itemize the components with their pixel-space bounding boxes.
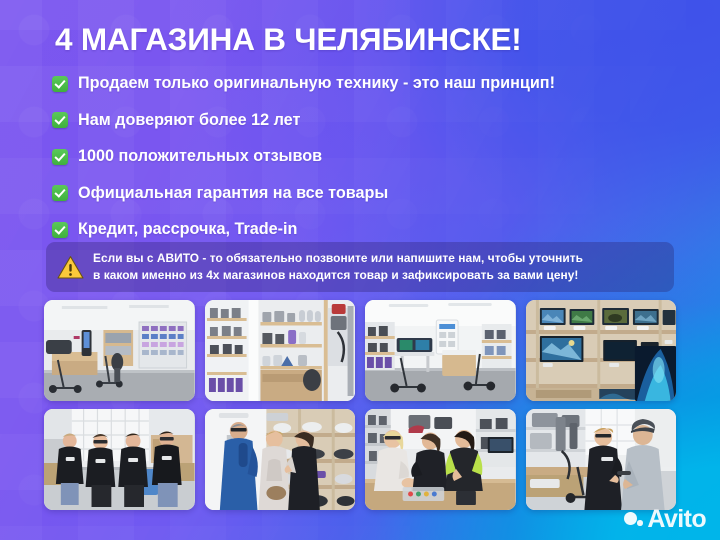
- benefits-list: Продаем только оригинальную технику - эт…: [52, 72, 692, 255]
- avito-dots-logo: [624, 509, 644, 529]
- notice-line-2: в каком именно из 4х магазинов находится…: [93, 268, 578, 282]
- page-title: 4 МАГАЗИНА В ЧЕЛЯБИНСКЕ!: [55, 24, 695, 56]
- list-item: Официальная гарантия на все товары: [52, 182, 692, 205]
- gallery-photo[interactable]: [526, 409, 677, 510]
- list-item-label: Официальная гарантия на все товары: [78, 184, 388, 203]
- list-item-label: 1000 положительных отзывов: [78, 147, 322, 166]
- gallery-photo[interactable]: [205, 300, 356, 401]
- green-check-icon: [52, 112, 68, 128]
- green-check-icon: [52, 76, 68, 92]
- promo-banner: 4 МАГАЗИНА В ЧЕЛЯБИНСКЕ! Продаем только …: [0, 0, 720, 540]
- notice-text: Если вы с АВИТО - то обязательно позвони…: [93, 250, 583, 284]
- gallery-photo[interactable]: [365, 300, 516, 401]
- gallery-photo[interactable]: [526, 300, 677, 401]
- gallery-photo[interactable]: [44, 409, 195, 510]
- list-item-label: Кредит, рассрочка, Trade-in: [78, 220, 297, 239]
- notice-line-1: Если вы с АВИТО - то обязательно позвони…: [93, 251, 583, 265]
- gallery-photo[interactable]: [365, 409, 516, 510]
- list-item-label: Нам доверяют более 12 лет: [78, 111, 300, 130]
- green-check-icon: [52, 185, 68, 201]
- photo-gallery: [44, 300, 676, 510]
- list-item: Нам доверяют более 12 лет: [52, 109, 692, 132]
- green-check-icon: [52, 149, 68, 165]
- list-item: Продаем только оригинальную технику - эт…: [52, 72, 692, 95]
- list-item-label: Продаем только оригинальную технику - эт…: [78, 74, 555, 93]
- list-item: Кредит, рассрочка, Trade-in: [52, 218, 692, 241]
- warning-triangle-icon: [57, 255, 84, 280]
- avito-brand-label: Avito: [647, 507, 706, 532]
- notice-box: Если вы с АВИТО - то обязательно позвони…: [46, 242, 674, 292]
- gallery-photo[interactable]: [205, 409, 356, 510]
- gallery-photo[interactable]: [44, 300, 195, 401]
- green-check-icon: [52, 222, 68, 238]
- list-item: 1000 положительных отзывов: [52, 145, 692, 168]
